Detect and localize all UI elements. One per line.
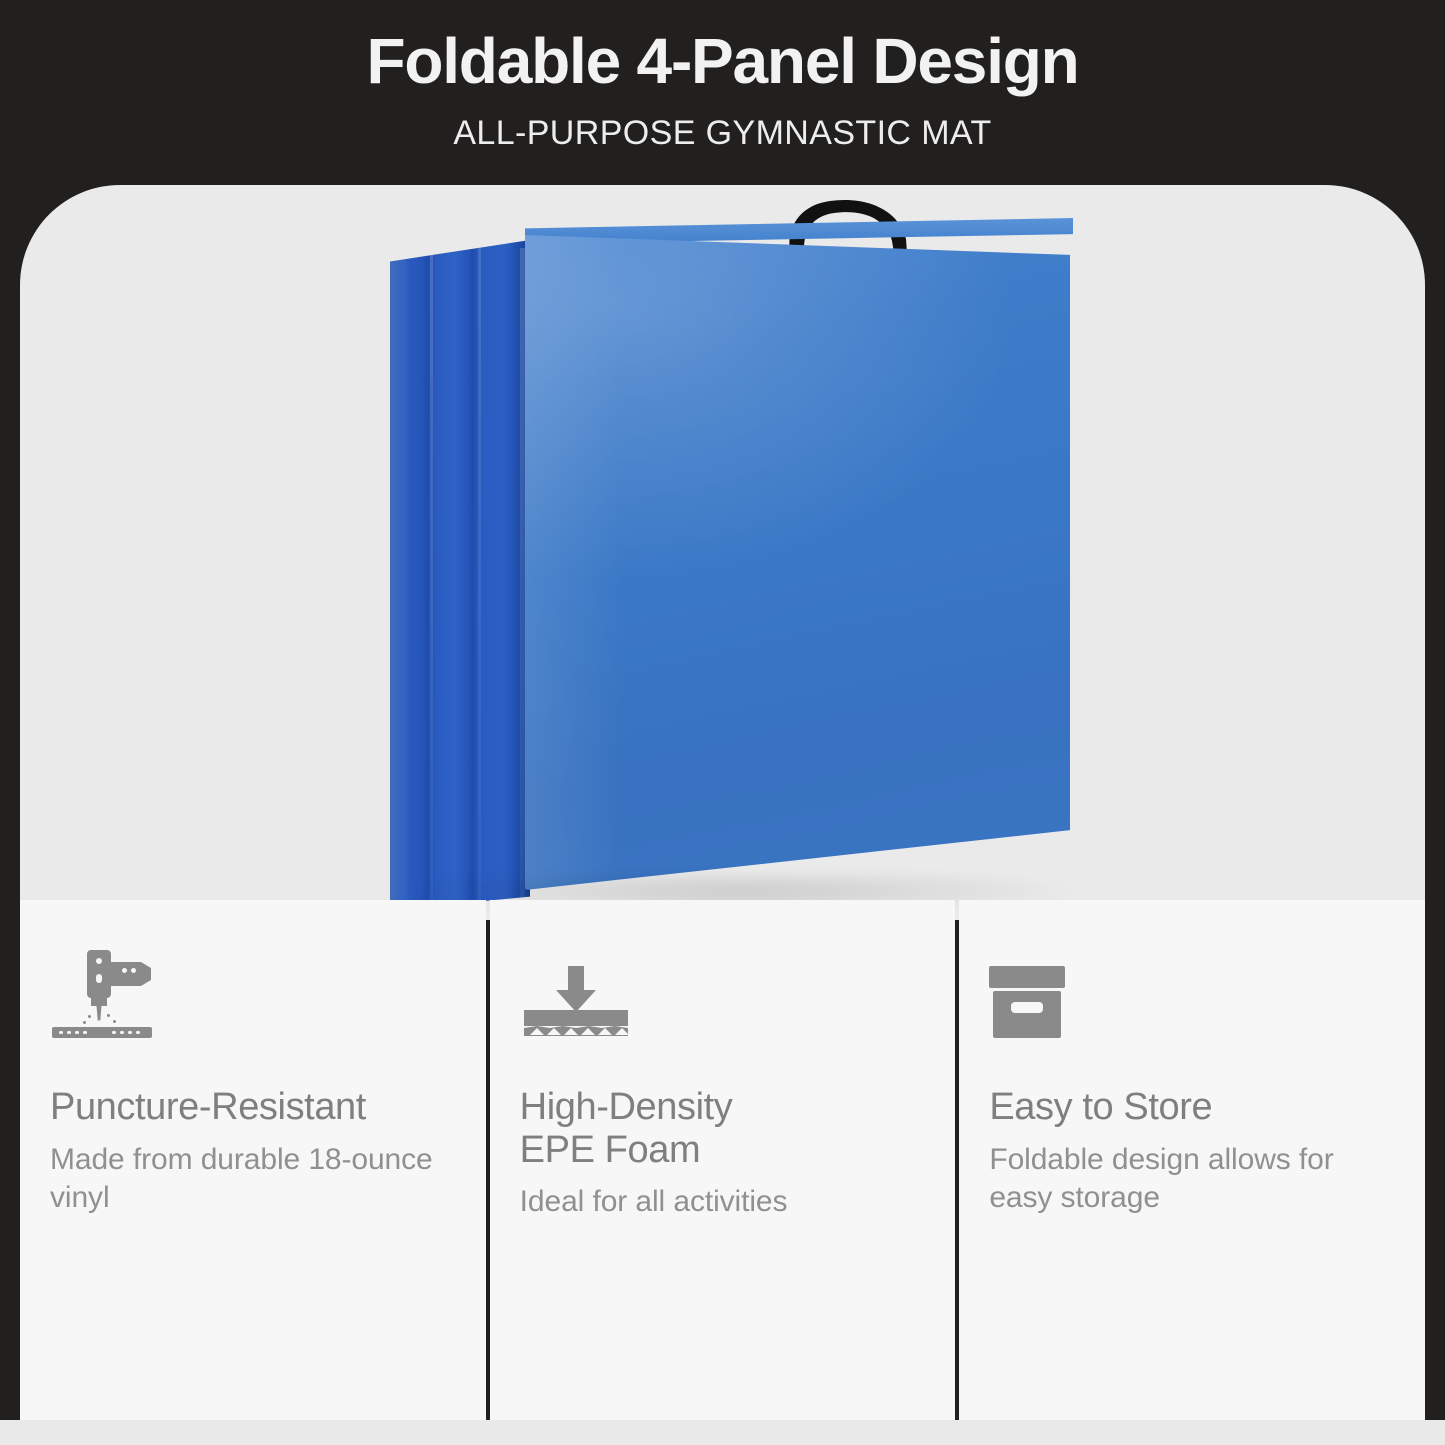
page-subtitle: ALL-PURPOSE GYMNASTIC MAT [453, 114, 991, 153]
feature-card-high-density-foam: High-Density EPE Foam Ideal for all acti… [490, 900, 956, 1420]
panel-seam [430, 244, 433, 912]
page-title: Foldable 4-Panel Design [366, 26, 1078, 98]
product-hero-panel [20, 185, 1425, 920]
puncture-drill-icon [50, 948, 442, 1038]
card-title: High-Density EPE Foam [520, 1086, 912, 1171]
feature-cards: Puncture-Resistant Made from durable 18-… [20, 900, 1425, 1420]
panel-seam [520, 248, 525, 912]
card-title: Easy to Store [989, 1086, 1381, 1129]
foam-compression-icon [520, 948, 912, 1038]
header-banner: Foldable 4-Panel Design ALL-PURPOSE GYMN… [0, 0, 1445, 190]
mat-front-face [525, 225, 1070, 890]
product-image-folded-mat [20, 185, 1425, 920]
card-title: Puncture-Resistant [50, 1086, 442, 1129]
panel-seam [478, 246, 481, 912]
card-description: Ideal for all activities [520, 1183, 912, 1221]
folded-panel-edges [390, 240, 530, 910]
card-description: Foldable design allows for easy storage [989, 1141, 1381, 1218]
storage-box-icon [989, 948, 1381, 1038]
page-bottom-strip [0, 1420, 1445, 1445]
feature-card-puncture-resistant: Puncture-Resistant Made from durable 18-… [20, 900, 486, 1420]
card-description: Made from durable 18-ounce vinyl [50, 1141, 442, 1218]
feature-card-easy-to-store: Easy to Store Foldable design allows for… [959, 900, 1425, 1420]
